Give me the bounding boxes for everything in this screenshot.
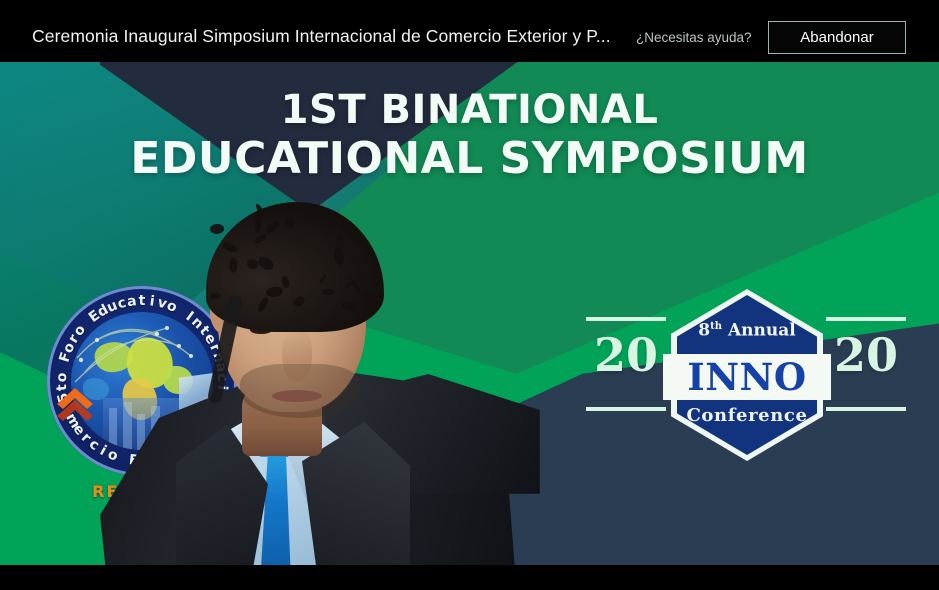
inno-annual-word: Annual: [728, 321, 796, 341]
inno-annual-number: 8: [698, 321, 710, 341]
foro-educativo-logo: 5to Foro Educativo Internacio mercio Ext…: [47, 286, 237, 476]
inno-brand-text: INNO: [663, 354, 831, 400]
year-left: 20: [583, 329, 669, 381]
foro-city-label: REYNOSA: [92, 482, 192, 501]
inno-conference-label: Conference: [671, 405, 823, 427]
meeting-title: Ceremonia Inaugural Simposium Internacio…: [32, 26, 612, 46]
year-rule-bottom-right: [826, 407, 906, 411]
year-rule-top-left: [586, 317, 666, 321]
year-right: 20: [823, 329, 909, 381]
foro-chevron-icon: [53, 378, 97, 422]
inno-conference-logo: 20 20 8th Annual INNO Conference: [581, 295, 911, 455]
leave-meeting-button[interactable]: Abandonar: [768, 21, 906, 54]
inno-annual-ordinal: th: [710, 321, 722, 332]
meeting-window: Ceremonia Inaugural Simposium Internacio…: [0, 0, 939, 590]
presentation-slide: 1ST BINATIONAL EDUCATIONAL SYMPOSIUM: [0, 62, 939, 565]
year-rule-bottom-left: [586, 407, 666, 411]
video-stage[interactable]: 1ST BINATIONAL EDUCATIONAL SYMPOSIUM: [0, 62, 939, 565]
inno-annual-label: 8th Annual: [677, 317, 817, 341]
need-help-link[interactable]: ¿Necesitas ayuda?: [636, 30, 752, 46]
year-rule-top-right: [826, 317, 906, 321]
meeting-topbar: Ceremonia Inaugural Simposium Internacio…: [0, 0, 939, 62]
bottom-letterbox-bar: [0, 565, 939, 590]
